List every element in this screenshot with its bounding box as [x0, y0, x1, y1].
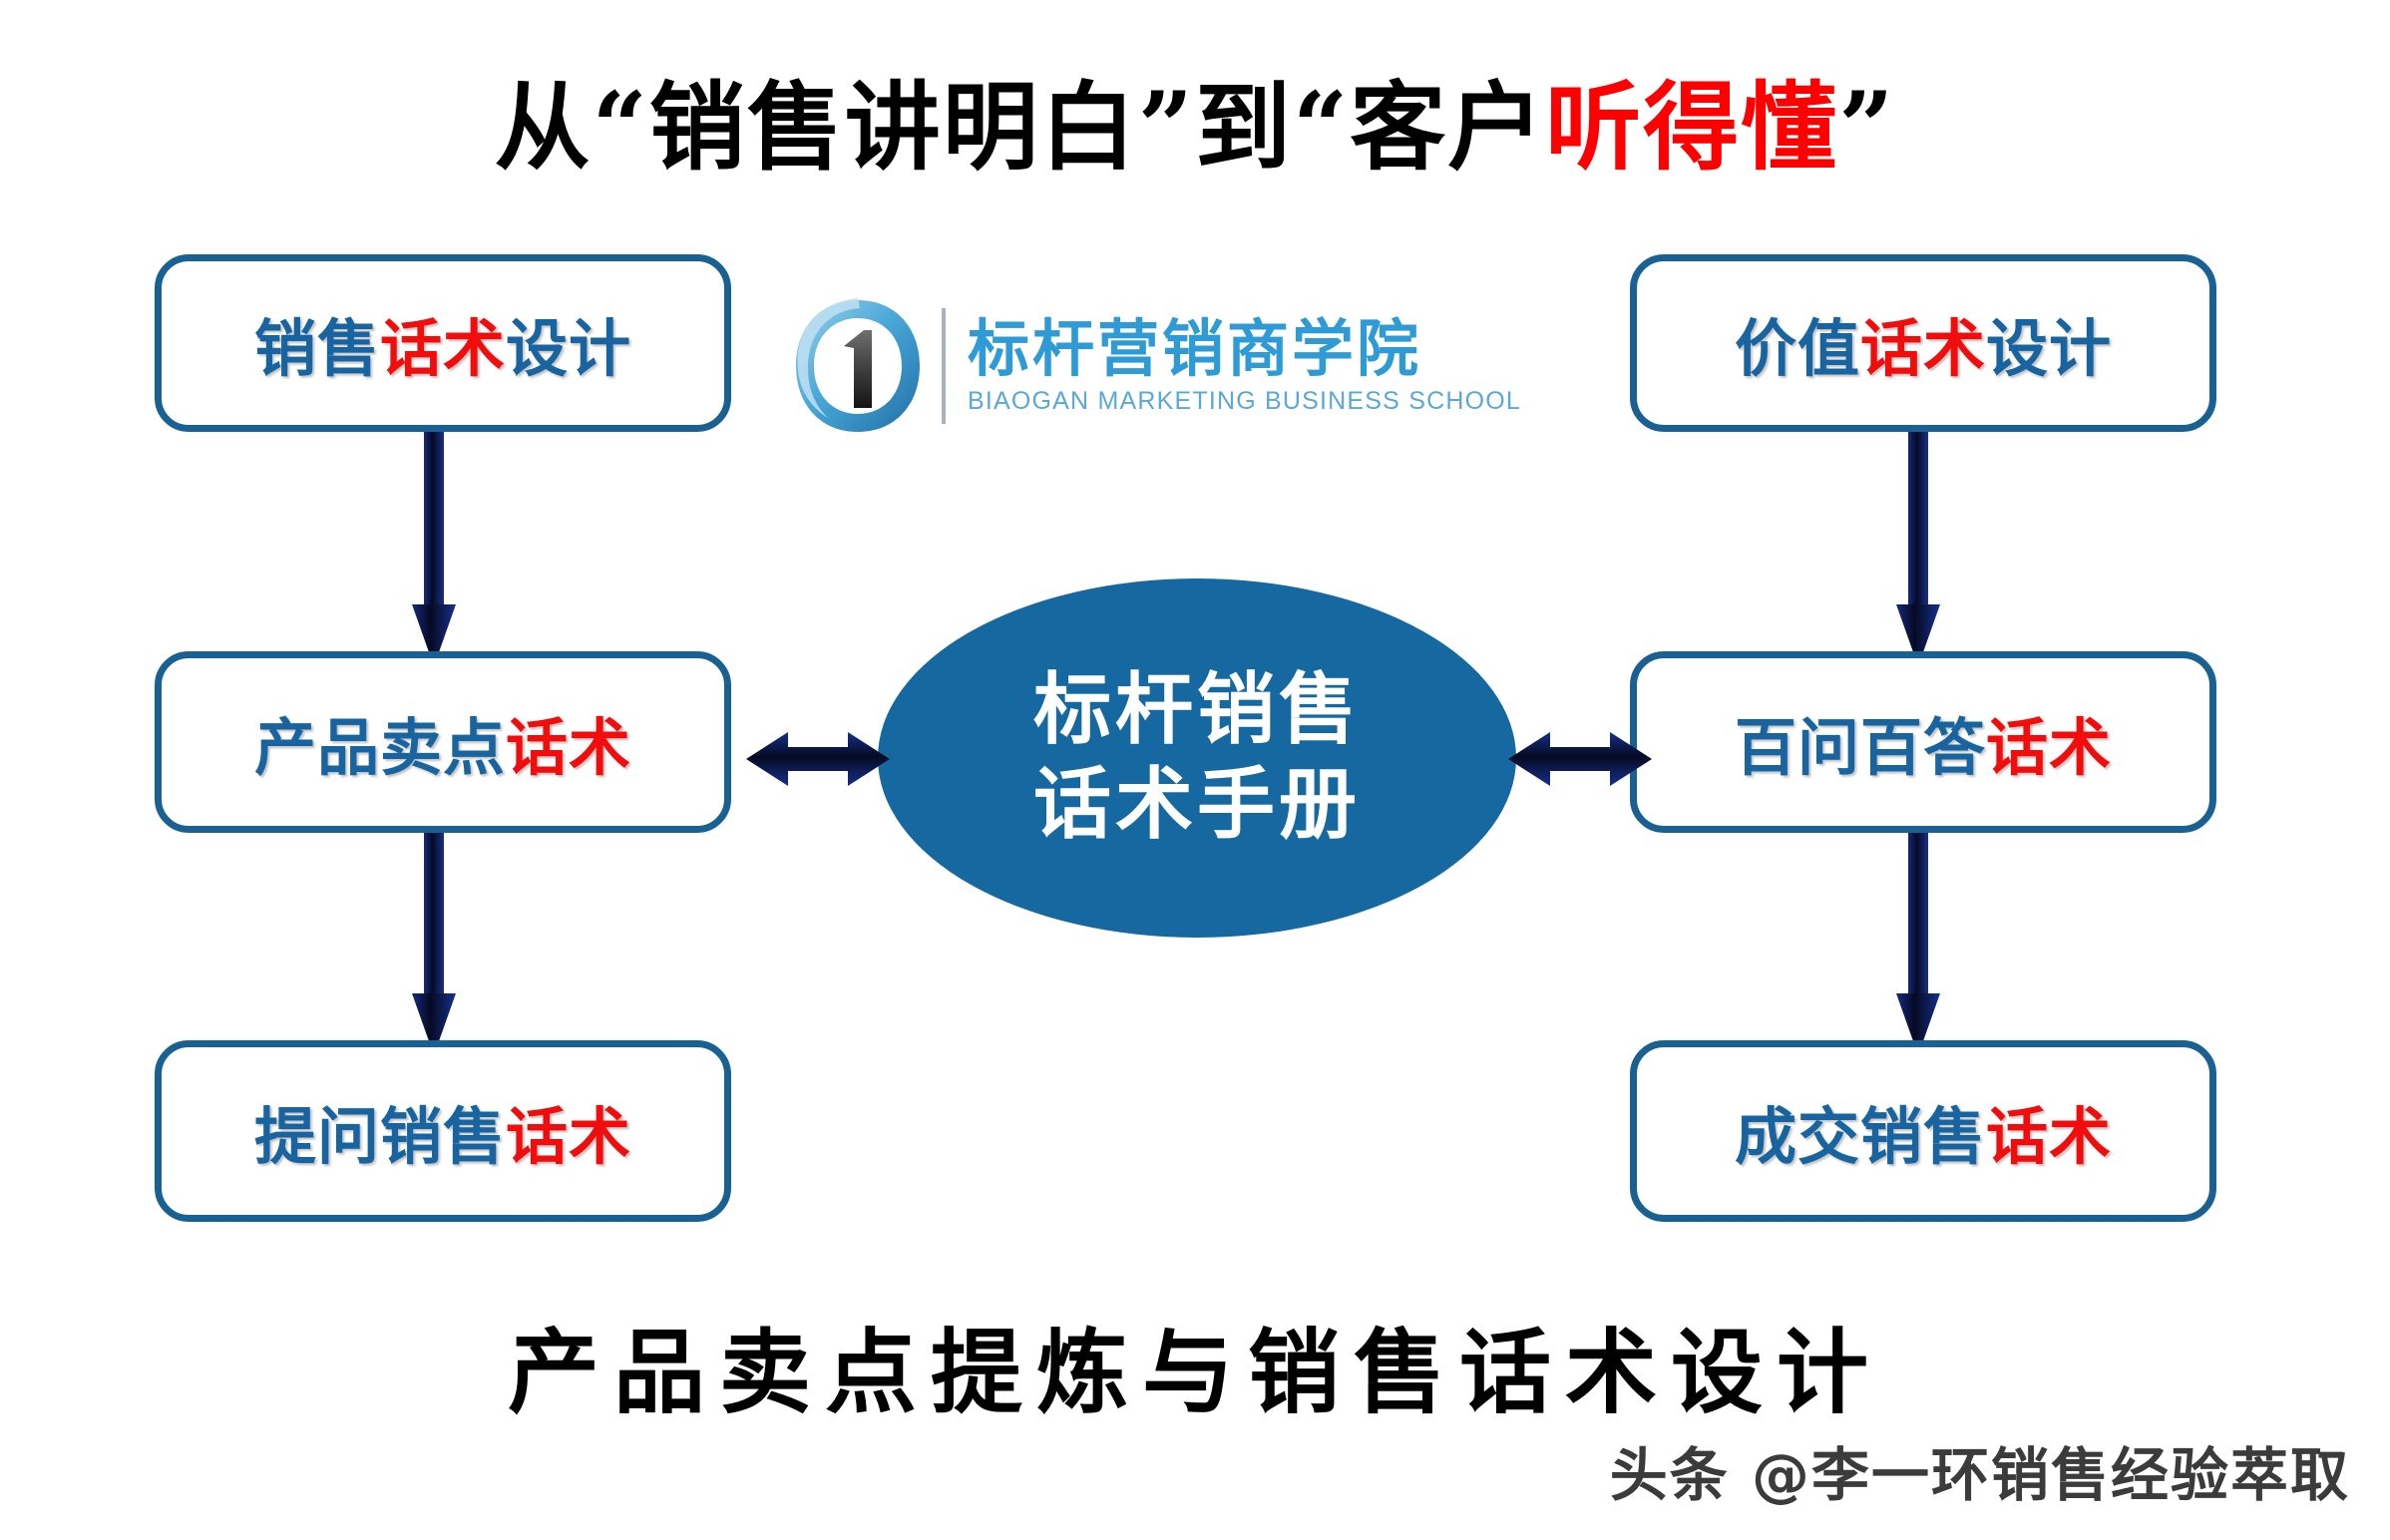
slide-canvas: 从“销售讲明白”到“客户听得懂” [0, 0, 2390, 1540]
logo-name-cn: 标杆营销商学院 [968, 316, 1521, 381]
brand-logo: 标杆营销商学院 BIAOGAN MARKETING BUSINESS SCHOO… [788, 291, 1576, 441]
title-quote-close-2: ” [1838, 71, 1895, 184]
node-sales-script-design[interactable]: 销售话术设计 [155, 254, 731, 432]
logo-wordmark: 标杆营销商学院 BIAOGAN MARKETING BUSINESS SCHOO… [968, 316, 1521, 416]
node-questioning-sales-script[interactable]: 提问销售话术 [155, 1040, 731, 1222]
center-line-2: 话术手册 [1033, 758, 1361, 853]
title-middle: 到 [1195, 72, 1293, 184]
node-label-part-red: 话术 [380, 312, 506, 385]
arrow-left-right-icon [746, 724, 890, 794]
node-label-part-blue-1: 价值 [1735, 312, 1860, 385]
node-label-part-blue-1: 产品卖点 [254, 711, 506, 784]
node-label: 价值话术设计 [1735, 298, 2112, 388]
node-value-script-design[interactable]: 价值话术设计 [1630, 254, 2216, 432]
center-hub-sales-script-manual[interactable]: 标杆销售 话术手册 [878, 578, 1516, 938]
node-label-part-red: 话术 [1860, 312, 1986, 385]
node-label: 销售话术设计 [254, 298, 631, 388]
bottom-caption: 产品卖点提炼与销售话术设计 [0, 1299, 2390, 1431]
arrow-down-icon [1895, 419, 1941, 668]
node-label-part-blue-1: 销售 [254, 312, 380, 385]
logo-divider [942, 308, 946, 424]
arrow-left-right-icon [1508, 724, 1652, 794]
node-label: 产品卖点话术 [254, 697, 631, 787]
title-quote-open-2: “ [1293, 71, 1350, 184]
node-label-part-blue-2: 设计 [1986, 312, 2112, 385]
node-label: 提问销售话术 [254, 1086, 631, 1176]
node-label-part-blue-1: 成交销售 [1735, 1100, 1986, 1173]
node-product-selling-point-script[interactable]: 产品卖点话术 [155, 651, 731, 833]
node-label-part-red: 话术 [1986, 1100, 2112, 1173]
watermark-credit: 头条 @李一环销售经验萃取 [1610, 1428, 2350, 1512]
node-label-part-red: 话术 [506, 711, 631, 784]
title-quote-open-1: “ [593, 71, 649, 184]
logo-name-en: BIAOGAN MARKETING BUSINESS SCHOOL [968, 387, 1521, 416]
arrow-down-icon [411, 419, 457, 668]
title-segment-1: 销售讲明白 [649, 72, 1138, 184]
node-label-part-red: 话术 [1986, 711, 2112, 784]
node-label-part-blue-2: 设计 [506, 312, 631, 385]
node-label-part-blue-1: 提问销售 [254, 1100, 506, 1173]
node-hundred-qa-script[interactable]: 百问百答话术 [1630, 651, 2216, 833]
title-segment-2-highlight: 听得懂 [1545, 72, 1838, 184]
node-label-part-blue-1: 百问百答 [1735, 711, 1986, 784]
title-quote-close-1: ” [1138, 71, 1195, 184]
title-prefix: 从 [495, 72, 593, 184]
title-segment-2: 客户 [1350, 72, 1545, 184]
page-title: 从“销售讲明白”到“客户听得懂” [0, 78, 2390, 179]
circle-one-icon [788, 296, 928, 436]
node-label-part-red: 话术 [506, 1100, 631, 1173]
arrow-down-icon [411, 810, 457, 1057]
center-line-1: 标杆销售 [1033, 663, 1361, 758]
arrow-down-icon [1895, 810, 1941, 1057]
node-label: 成交销售话术 [1735, 1086, 2112, 1176]
node-closing-sales-script[interactable]: 成交销售话术 [1630, 1040, 2216, 1222]
node-label: 百问百答话术 [1735, 697, 2112, 787]
